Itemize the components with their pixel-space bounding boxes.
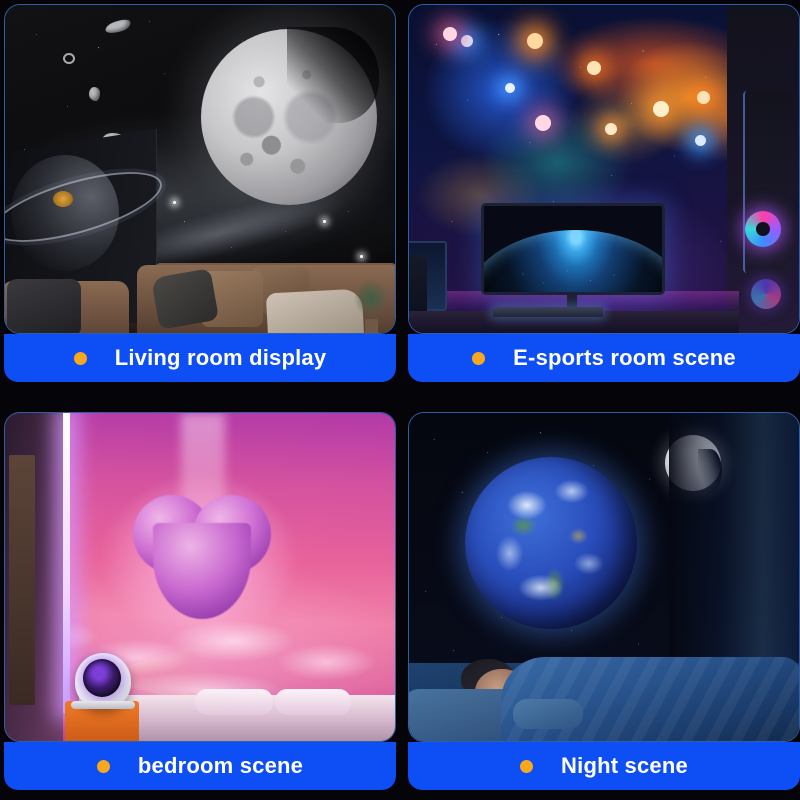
caption-bar-night[interactable]: Night scene [408,742,800,790]
caption-bar-bedroom[interactable]: bedroom scene [4,742,396,790]
pink-star-icon [443,27,457,41]
caption-label: Night scene [561,753,688,779]
heart-cloud-icon [133,495,271,619]
star-icon [360,255,363,258]
projector-lens-icon [83,659,121,697]
caption-bar-living-room[interactable]: Living room display [4,334,396,382]
planet-ring-highlight [53,191,73,207]
scene-grid: Living room display [0,0,800,800]
blue-star-icon [461,35,473,47]
scene-card-night[interactable]: Night scene [408,412,800,800]
heart-body [153,523,251,619]
neon-light-strip [63,413,70,713]
blue-star-icon [695,135,706,146]
city-lights [510,262,640,292]
scene-card-living-room[interactable]: Living room display [4,4,396,394]
caption-label: bedroom scene [138,753,303,779]
sleeping-person-arm [513,699,583,729]
orange-star-icon [605,123,617,135]
moon-icon [201,29,377,205]
rgb-fan-icon [751,279,781,309]
bullet-dot-icon [74,352,87,365]
caption-label: E-sports room scene [513,345,736,371]
orange-star-icon [587,61,601,75]
asteroid-icon [63,53,75,64]
scene-photo-living-room [4,4,396,334]
earth-icon [465,457,637,629]
star-icon [173,201,176,204]
scene-photo-esports-room [408,4,800,334]
caption-label: Living room display [115,345,327,371]
orange-star-icon [697,91,710,104]
scene-photo-night [408,412,800,742]
bullet-dot-icon [520,760,533,773]
moon-shadow [287,27,379,123]
speaker [408,255,427,313]
star-icon [323,220,326,223]
ultrawide-monitor [481,203,665,295]
caption-bar-esports-room[interactable]: E-sports room scene [408,334,800,382]
asteroid-icon [89,87,100,101]
pink-star-icon [535,115,551,131]
orange-star-icon [653,101,669,117]
scene-photo-bedroom [4,412,396,742]
potted-plant [347,277,395,334]
pillow [275,689,351,715]
cushion [151,268,219,330]
blue-star-icon [505,83,515,93]
door [9,455,35,705]
orange-star-icon [527,33,543,49]
armchair-blanket [7,279,81,334]
scene-grid-page: Living room display [0,0,800,800]
pc-tower [743,91,793,273]
scene-card-bedroom[interactable]: bedroom scene [4,412,396,800]
rgb-fan-icon [745,211,781,247]
keyboard [493,307,603,317]
projector-base [71,701,135,709]
bullet-dot-icon [97,760,110,773]
bullet-dot-icon [472,352,485,365]
scene-card-esports-room[interactable]: E-sports room scene [408,4,800,394]
